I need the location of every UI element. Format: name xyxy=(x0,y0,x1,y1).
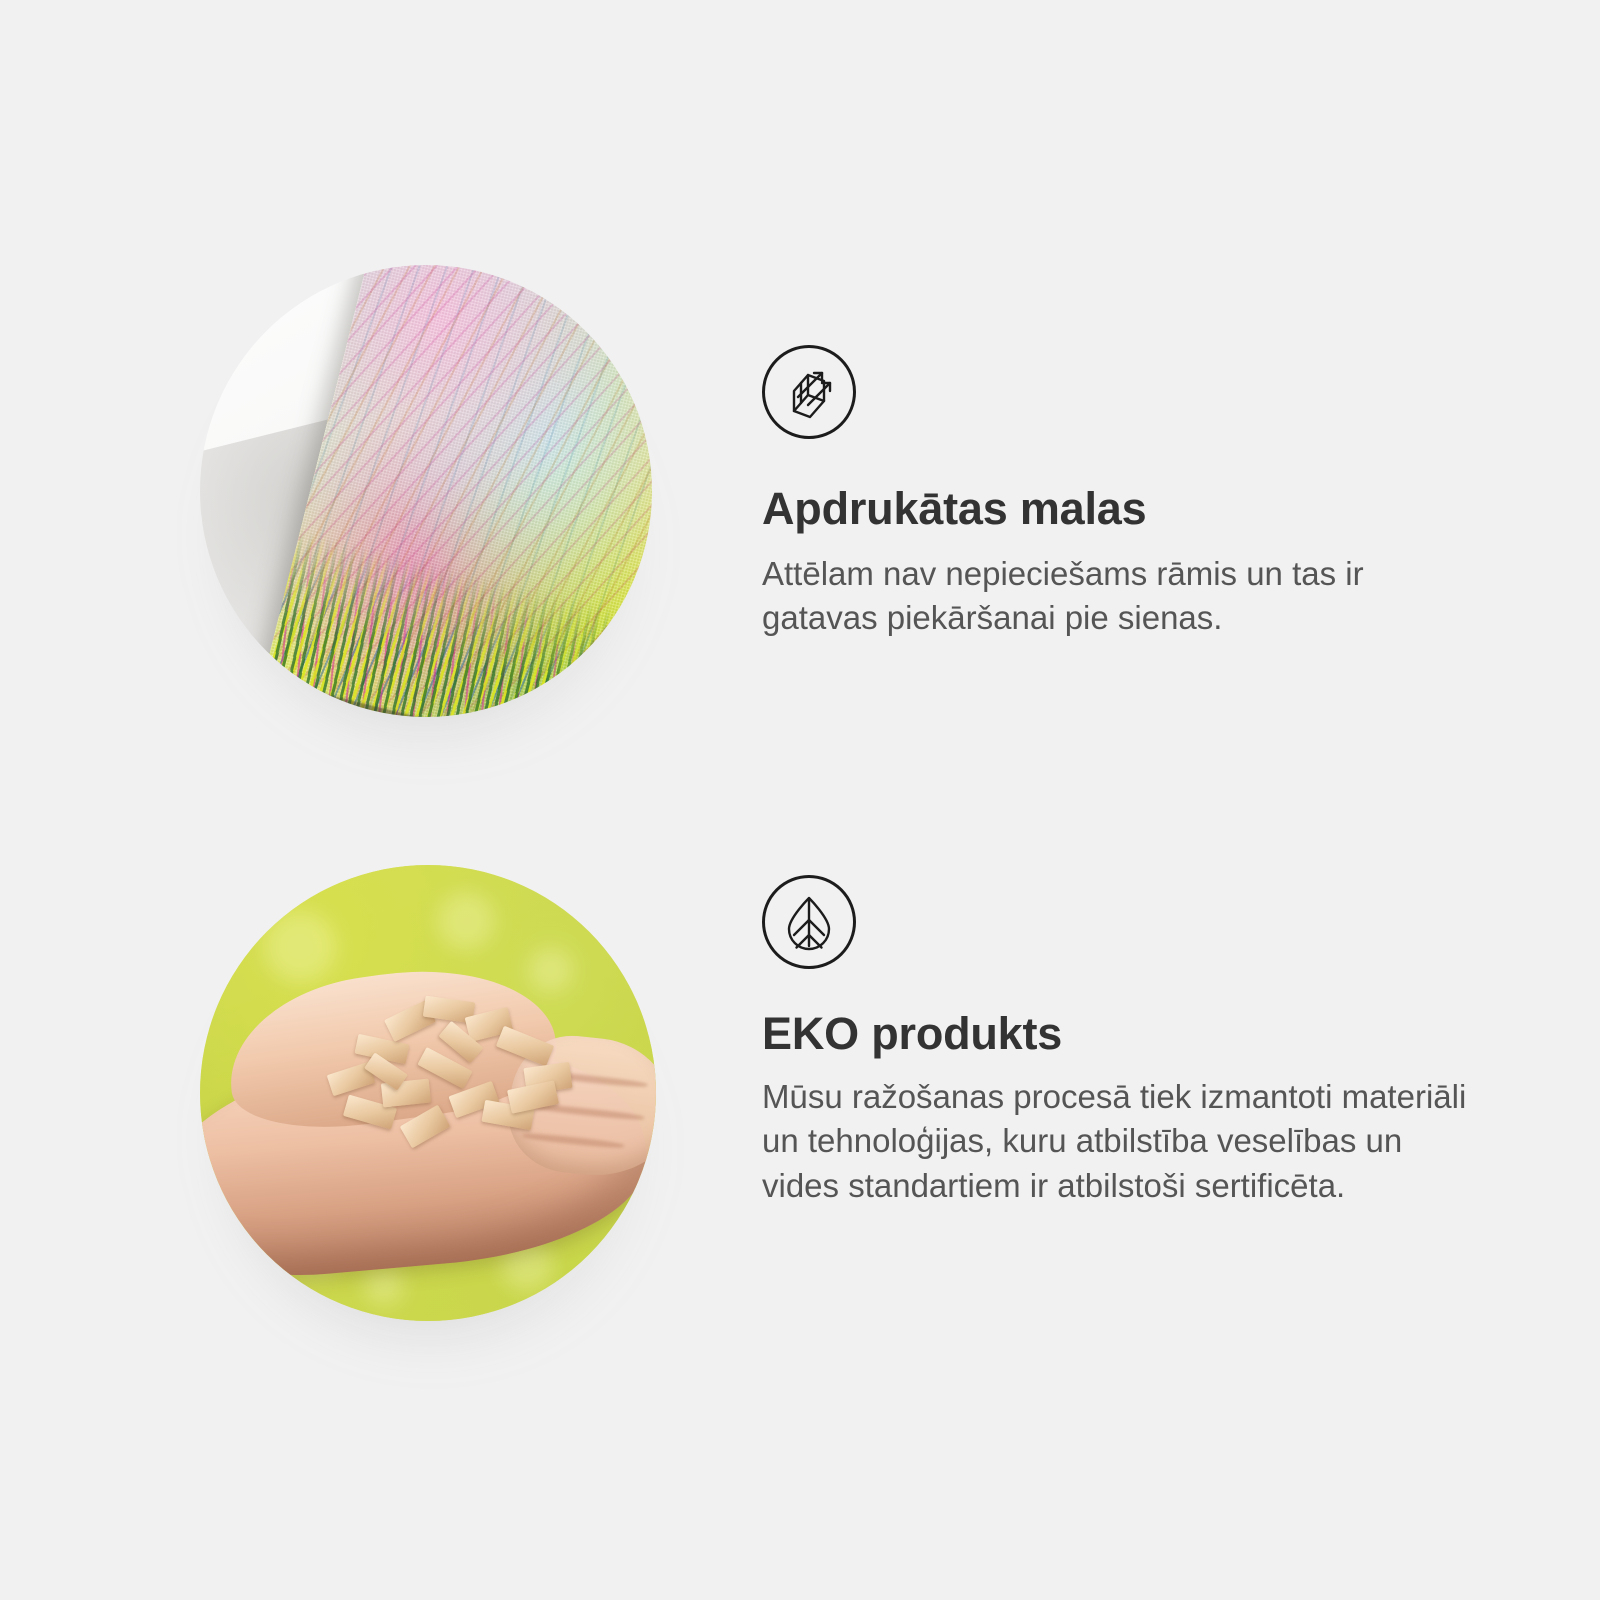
media-clip xyxy=(200,865,656,1321)
feature-block-printed-edges: Apdrukātas malas Attēlam nav nepieciešam… xyxy=(0,0,1600,800)
canvas-edge-arrows-icon xyxy=(762,345,856,439)
canvas-print-corner-photo xyxy=(200,265,652,717)
media-clip xyxy=(200,265,652,717)
hands-holding-wood-chips-photo xyxy=(200,865,656,1321)
leaf-icon xyxy=(762,875,856,969)
feature-block-eco-product: EKO produkts Mūsu ražošanas procesā tiek… xyxy=(0,800,1600,1600)
wood-chip-pile xyxy=(319,993,583,1157)
wood-chip xyxy=(496,1026,554,1067)
bokeh-dot xyxy=(264,911,336,983)
wood-chip xyxy=(507,1080,559,1113)
feature-description: Mūsu ražošanas procesā tiek izmantoti ma… xyxy=(762,1075,1467,1209)
bokeh-dot xyxy=(364,1266,404,1306)
canvas-photo-scene xyxy=(200,265,652,717)
eco-photo-scene xyxy=(200,865,656,1321)
feature-text-printed-edges: Apdrukātas malas Attēlam nav nepieciešam… xyxy=(762,345,1502,641)
feature-title: EKO produkts xyxy=(762,1009,1502,1059)
feature-text-eco-product: EKO produkts Mūsu ražošanas procesā tiek… xyxy=(762,875,1502,1208)
canvas-slab xyxy=(253,265,652,717)
feature-description: Attēlam nav nepieciešams rāmis un tas ir… xyxy=(762,552,1467,641)
product-features-page: Apdrukātas malas Attēlam nav nepieciešam… xyxy=(0,0,1600,1600)
bokeh-dot xyxy=(437,892,495,950)
bokeh-dot xyxy=(528,947,574,993)
feature-title: Apdrukātas malas xyxy=(762,484,1502,534)
wood-chip xyxy=(400,1105,451,1149)
